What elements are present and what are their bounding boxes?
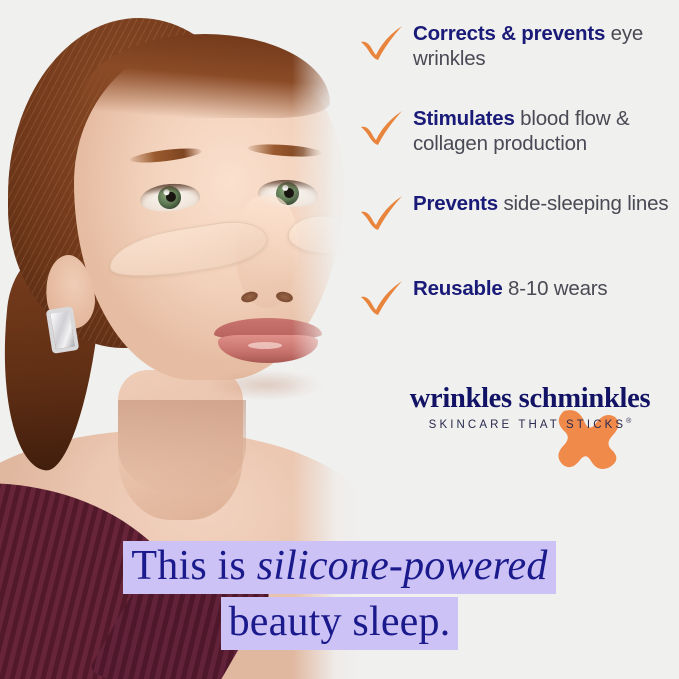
brand-wordmark: wrinkles schminkles bbox=[396, 383, 664, 415]
tagline-text: SKINCARE THAT STICKS bbox=[429, 419, 626, 431]
brand-logo: wrinkles schminkles SKINCARE THAT STICKS… bbox=[396, 383, 664, 475]
check-icon bbox=[358, 277, 406, 317]
benefit-text: Corrects & prevents eye wrinkles bbox=[413, 14, 670, 71]
benefit-rest: 8-10 wears bbox=[503, 277, 608, 300]
advertisement-image: Corrects & prevents eye wrinkles Stimula… bbox=[0, 0, 679, 679]
benefit-bold: Prevents bbox=[413, 192, 498, 215]
benefit-item: Corrects & prevents eye wrinkles bbox=[358, 14, 670, 99]
registered-mark: ® bbox=[626, 418, 631, 425]
benefit-text: Reusable 8-10 wears bbox=[413, 269, 670, 301]
headline-plain: This is bbox=[131, 543, 256, 589]
brand-tagline: SKINCARE THAT STICKS® bbox=[396, 418, 664, 431]
headline-line-1: This is silicone-powered bbox=[0, 541, 679, 594]
check-icon bbox=[358, 192, 406, 232]
benefit-text: Stimulates blood flow & collagen product… bbox=[413, 99, 670, 156]
benefit-bold: Corrects & prevents bbox=[413, 22, 605, 45]
check-icon bbox=[358, 22, 406, 62]
benefit-item: Reusable 8-10 wears bbox=[358, 269, 670, 354]
benefit-rest: side-sleeping lines bbox=[498, 192, 668, 215]
benefits-list: Corrects & prevents eye wrinkles Stimula… bbox=[358, 14, 670, 354]
check-icon bbox=[358, 107, 406, 147]
headline: This is silicone-powered beauty sleep. bbox=[0, 541, 679, 650]
headline-band-2: beauty sleep. bbox=[221, 597, 459, 650]
benefit-item: Prevents side-sleeping lines bbox=[358, 184, 670, 269]
lip-highlight bbox=[248, 342, 282, 349]
benefit-text: Prevents side-sleeping lines bbox=[413, 184, 670, 216]
benefit-item: Stimulates blood flow & collagen product… bbox=[358, 99, 670, 184]
benefit-bold: Reusable bbox=[413, 277, 503, 300]
headline-italic: silicone-powered bbox=[257, 543, 548, 589]
neck-shadow bbox=[118, 400, 246, 495]
orange-x-blob-icon bbox=[551, 405, 623, 473]
headline-band-1: This is silicone-powered bbox=[123, 541, 555, 594]
headline-line-2: beauty sleep. bbox=[0, 597, 679, 650]
benefit-bold: Stimulates bbox=[413, 107, 515, 130]
